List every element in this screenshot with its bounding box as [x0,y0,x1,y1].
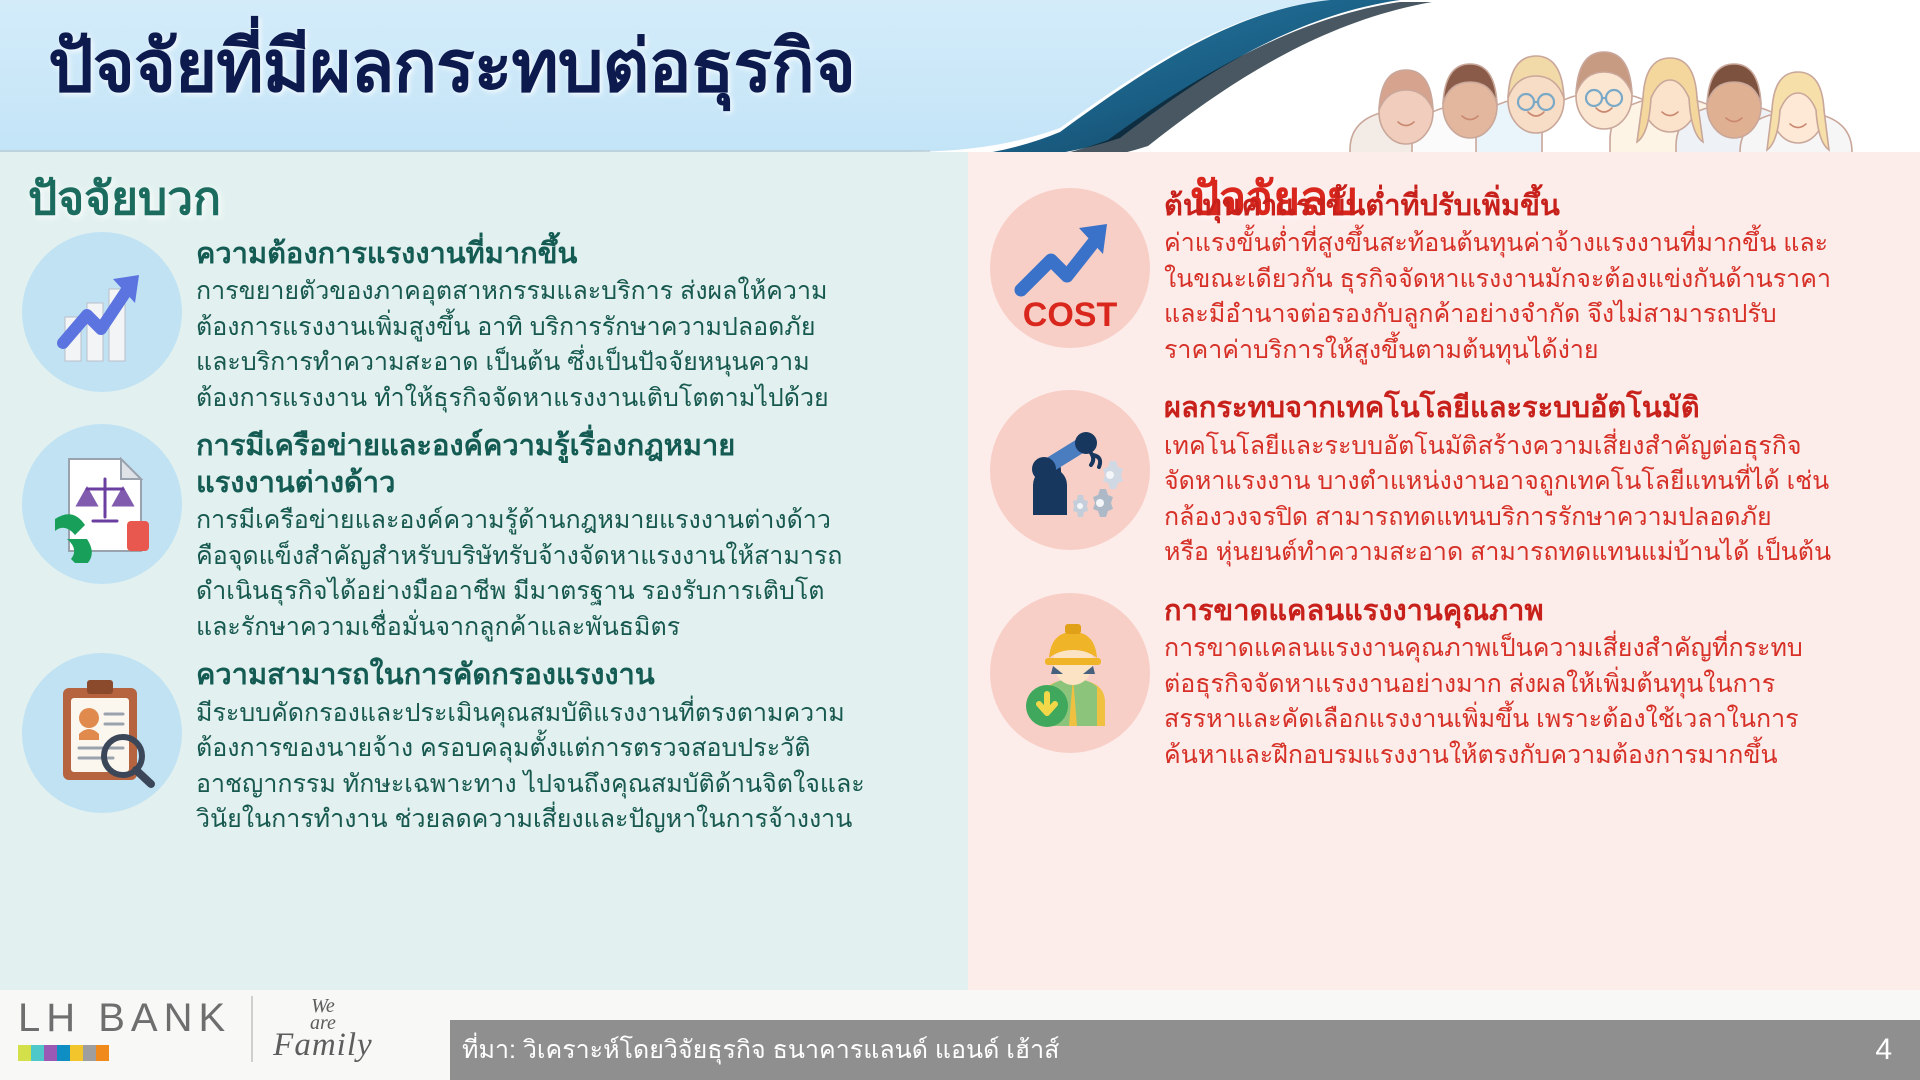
positive-block: ความต้องการแรงงานที่มากขึ้น การขยายตัวขอ… [22,232,942,417]
slide-footer: LH BANK We are Family ที่มา: วิเคราะ [0,990,1920,1080]
negative-block-text: การขาดแคลนแรงงานคุณภาพ การขาดแคลนแรงงานค… [1164,593,1894,774]
positive-block-body: การขยายตัวของภาคอุตสาหกรรมและบริการ ส่งผ… [196,274,942,416]
positive-block-title: ความสามารถในการคัดกรองแรงงาน [196,657,942,694]
screening-icon-bubble [22,653,182,813]
positive-block-text: ความต้องการแรงงานที่มากขึ้น การขยายตัวขอ… [196,232,942,417]
positive-block: การมีเครือข่ายและองค์ความรู้เรื่องกฎหมาย… [22,424,942,645]
automation-icon-bubble [990,390,1150,550]
we-are-family-tagline: We are Family [273,996,372,1062]
lh-bank-logo: LH BANK We are Family [18,996,373,1062]
cost-icon-bubble: COST [990,188,1150,348]
positive-block-title: ความต้องการแรงงานที่มากขึ้น [196,236,942,273]
positive-block-list: ความต้องการแรงงานที่มากขึ้น การขยายตัวขอ… [22,232,942,846]
slide-header: ปัจจัยที่มีผลกระทบต่อธุรกิจ [0,0,1920,152]
tagline-line-family: Family [273,1029,372,1062]
slide-root: ปัจจัยที่มีผลกระทบต่อธุรกิจ [0,0,1920,1080]
growth-chart-icon-bubble [22,232,182,392]
negative-block-body: การขาดแคลนแรงงานคุณภาพเป็นความเสี่ยงสำคั… [1164,631,1894,773]
negative-block-body: เทคโนโลยีและระบบอัตโนมัติสร้างความเสี่ยง… [1164,429,1894,571]
negative-block-list: COST ต้นทุนค่าแรงขั้นต่ำที่ปรับเพิ่มขึ้น… [990,188,1894,796]
positive-block-body: การมีเครือข่ายและองค์ความรู้ด้านกฎหมายแร… [196,503,942,645]
worker-shortage-down-arrow-icon [1011,614,1129,732]
logo-divider [251,996,253,1062]
content-columns: ปัจจัยบวก ความต้องการแรงงาน [0,152,1920,990]
negative-block-body: ค่าแรงขั้นต่ำที่สูงขึ้นสะท้อนต้นทุนค่าจ้… [1164,226,1894,368]
robot-arm-gears-automation-icon [1011,411,1129,529]
cost-icon-label: COST [1023,296,1118,334]
lh-bank-wordmark: LH BANK [18,998,231,1038]
page-number: 4 [1875,1033,1892,1067]
positive-block-body: มีระบบคัดกรองและประเมินคุณสมบัติแรงงานที… [196,696,942,838]
negative-block: การขาดแคลนแรงงานคุณภาพ การขาดแคลนแรงงานค… [990,593,1894,774]
source-text: ที่มา: วิเคราะห์โดยวิจัยธุรกิจ ธนาคารแลน… [462,1030,1059,1070]
negative-block-title: ผลกระทบจากเทคโนโลยีและระบบอัตโนมัติ [1164,390,1894,427]
positive-block-title: การมีเครือข่ายและองค์ความรู้เรื่องกฎหมาย… [196,428,942,501]
negative-block: ผลกระทบจากเทคโนโลยีและระบบอัตโนมัติ เทคโ… [990,390,1894,571]
lh-bank-color-swatches [18,1045,231,1061]
source-bar: ที่มา: วิเคราะห์โดยวิจัยธุรกิจ ธนาคารแลน… [450,1020,1920,1080]
negative-block-title: การขาดแคลนแรงงานคุณภาพ [1164,593,1894,630]
positive-block: ความสามารถในการคัดกรองแรงงาน มีระบบคัดกร… [22,653,942,838]
page-title: ปัจจัยที่มีผลกระทบต่อธุรกิจ [48,22,855,112]
legal-document-scales-phone-icon [43,445,161,563]
worker-shortage-icon-bubble [990,593,1150,753]
positive-column-heading: ปัจจัยบวก [28,170,942,228]
negative-factors-column: ปัจจัยลบ COST ต้นทุนค่าแรงขั้นต่ำที่ปรับ… [968,152,1920,990]
negative-block-title: ต้นทุนค่าแรงขั้นต่ำที่ปรับเพิ่มขึ้น [1164,188,1894,225]
cost-rising-arrow-icon: COST [1005,198,1135,338]
positive-block-text: การมีเครือข่ายและองค์ความรู้เรื่องกฎหมาย… [196,424,942,645]
legal-document-icon-bubble [22,424,182,584]
negative-block-text: ผลกระทบจากเทคโนโลยีและระบบอัตโนมัติ เทคโ… [1164,390,1894,571]
positive-block-text: ความสามารถในการคัดกรองแรงงาน มีระบบคัดกร… [196,653,942,838]
negative-block-text: ต้นทุนค่าแรงขั้นต่ำที่ปรับเพิ่มขึ้น ค่าแ… [1164,188,1894,369]
growth-chart-arrow-icon [43,253,161,371]
negative-block: COST ต้นทุนค่าแรงขั้นต่ำที่ปรับเพิ่มขึ้น… [990,188,1894,369]
clipboard-magnifier-screening-icon [43,674,161,792]
positive-factors-column: ปัจจัยบวก ความต้องการแรงงาน [0,152,968,990]
